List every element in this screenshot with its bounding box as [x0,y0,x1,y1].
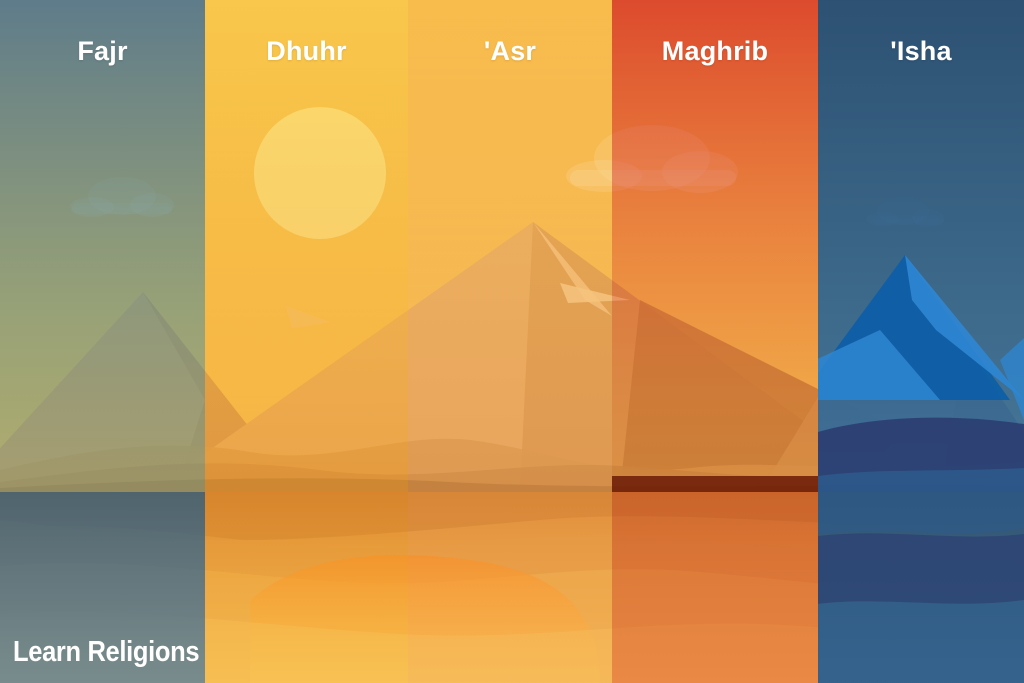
watermark-learn-religions: Learn Religions [13,638,199,667]
label-fajr: Fajr [0,38,205,65]
label-dhuhr-text: Dhuhr [266,36,346,66]
prayer-times-infographic: Fajr Dhuhr 'Asr Maghrib 'Isha Learn Reli… [0,0,1024,683]
label-asr-text: 'Asr [484,36,536,66]
label-fajr-text: Fajr [77,36,127,66]
label-isha-text: 'Isha [890,36,951,66]
label-asr: 'Asr [408,38,612,65]
label-maghrib: Maghrib [612,38,818,65]
label-maghrib-text: Maghrib [662,36,768,66]
isha-reflection-1 [818,492,1024,534]
isha-reflection-2 [818,533,1024,604]
isha-mountain-group [0,0,1024,683]
isha-reflection-3 [818,600,1024,683]
label-isha: 'Isha [818,38,1024,65]
label-dhuhr: Dhuhr [205,38,408,65]
